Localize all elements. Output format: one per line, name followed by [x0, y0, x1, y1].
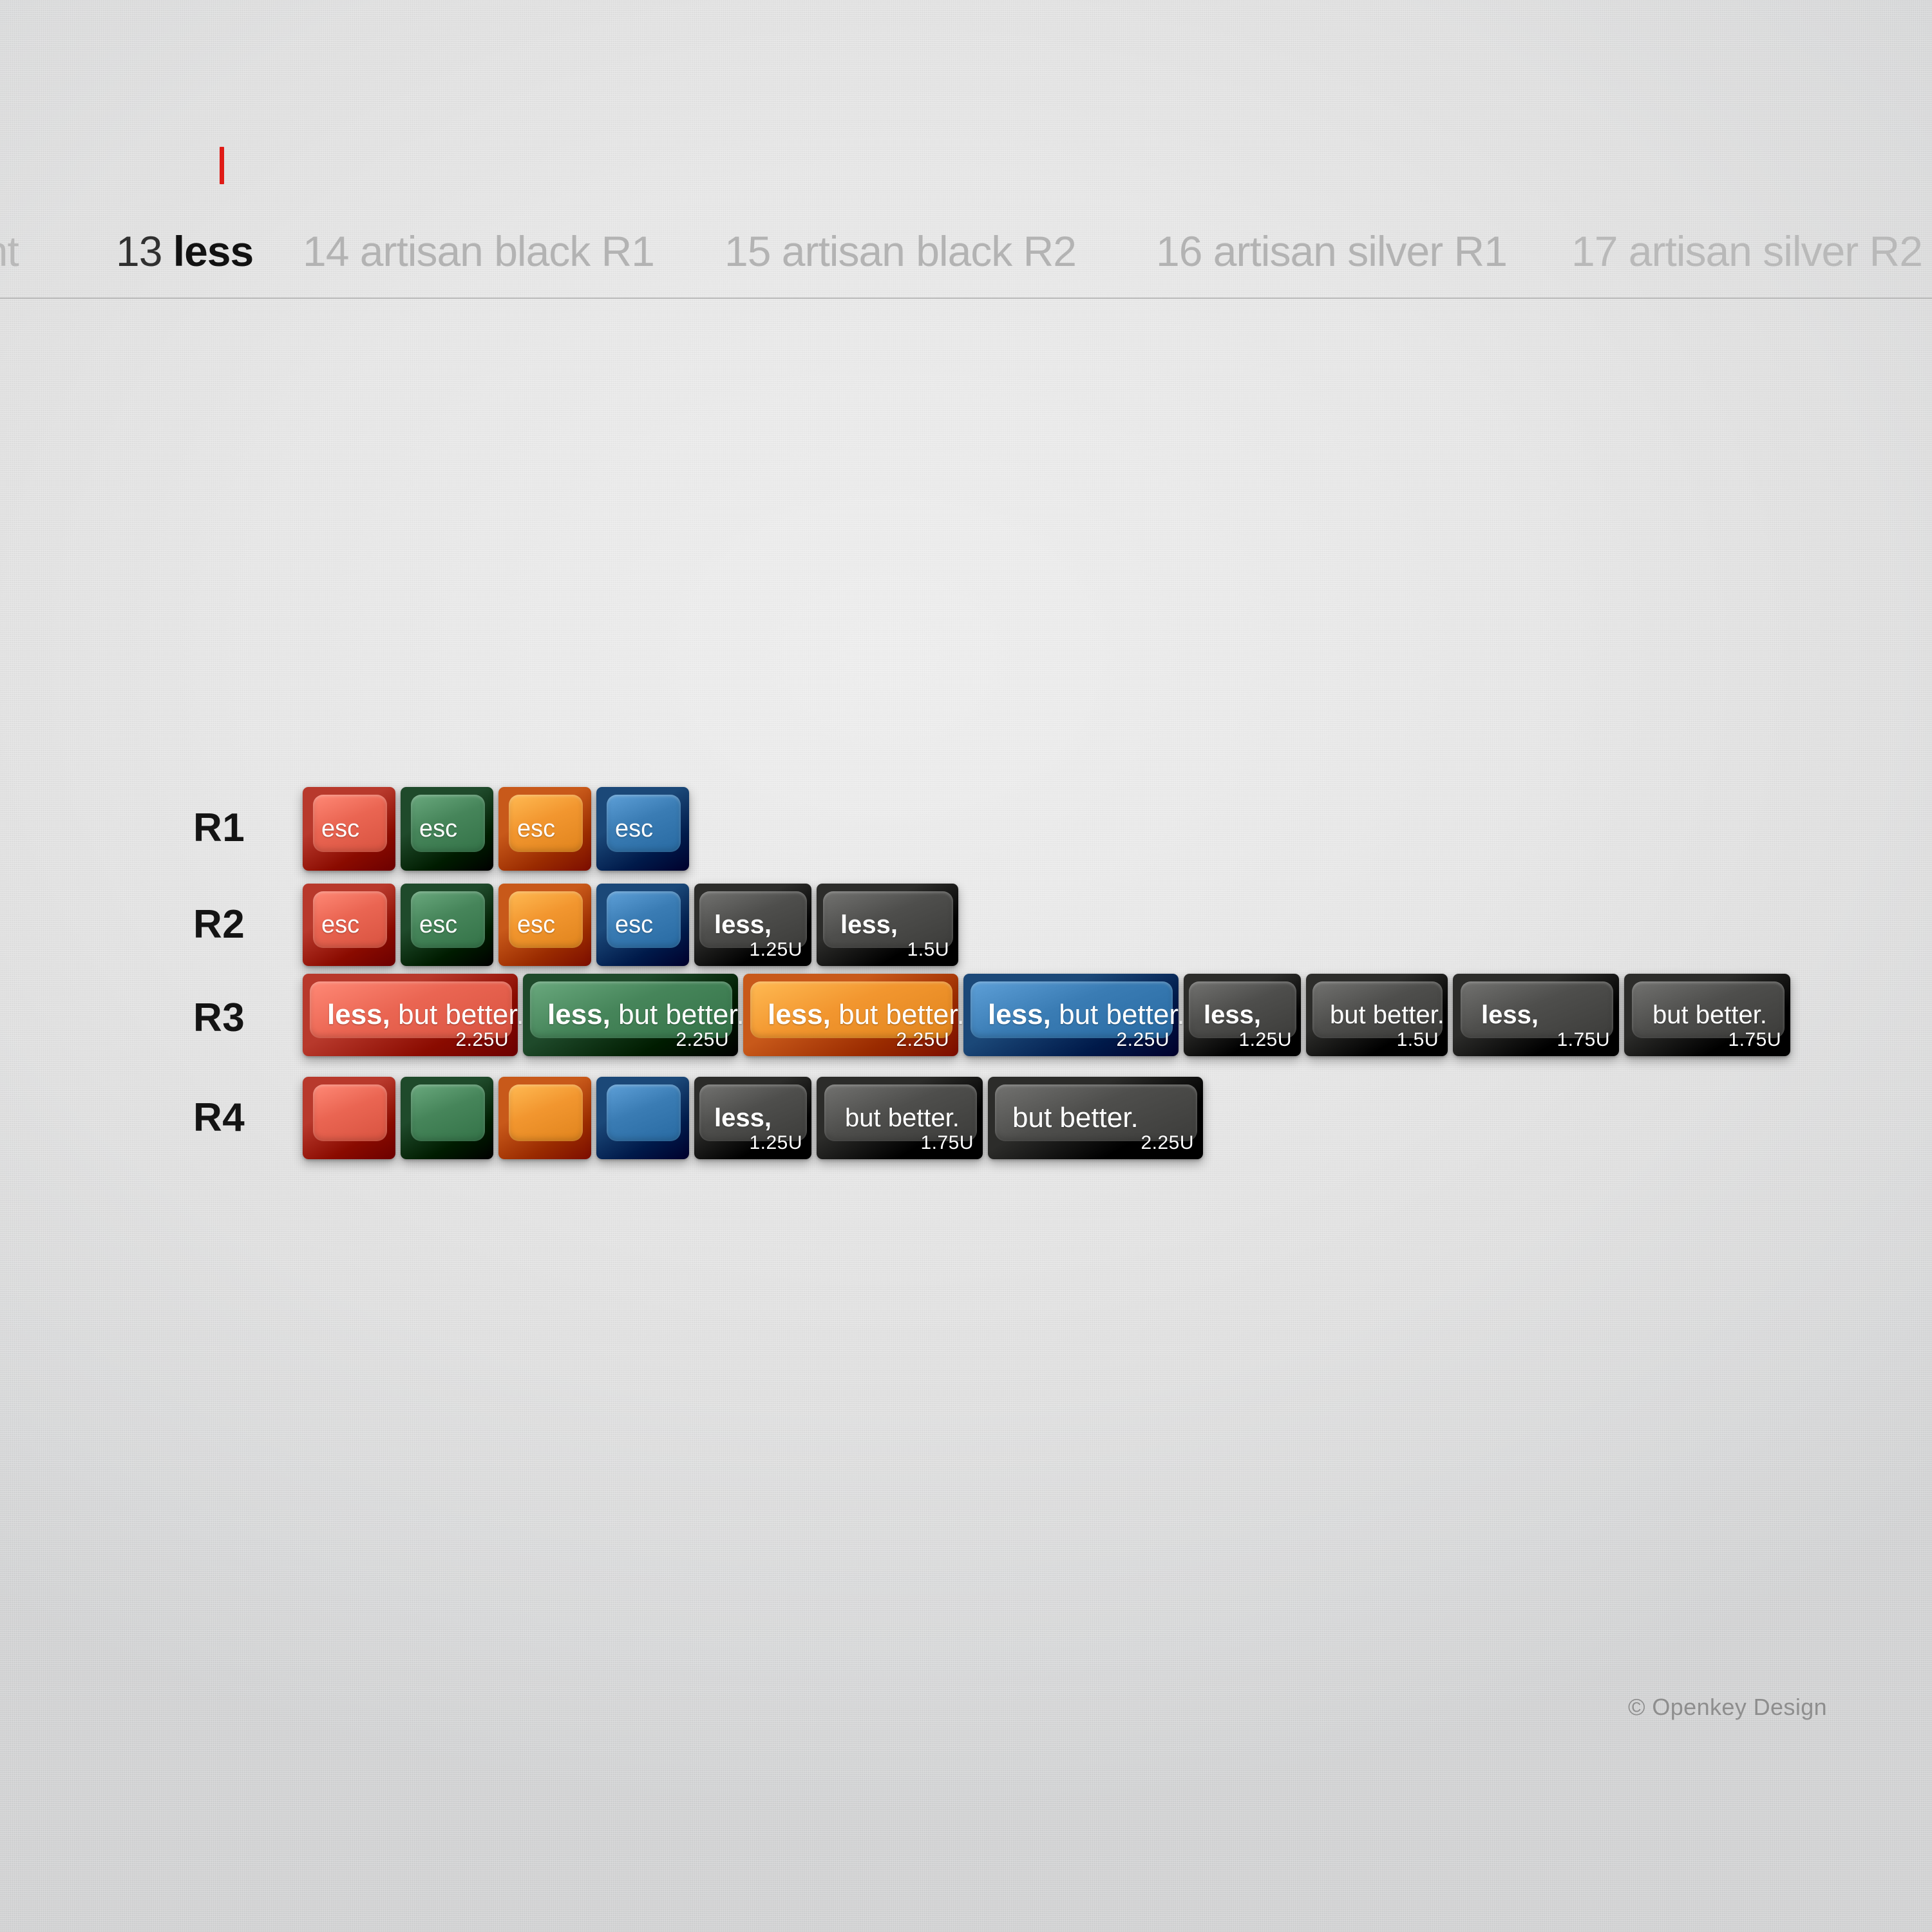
keycap[interactable]: esc — [498, 787, 591, 871]
keycap[interactable] — [498, 1077, 591, 1159]
keycap[interactable] — [303, 1077, 395, 1159]
keycap[interactable]: less, but better.2.25U — [963, 974, 1179, 1056]
keycap[interactable] — [596, 1077, 689, 1159]
keycap-top-face — [313, 795, 387, 853]
keycap[interactable] — [401, 1077, 493, 1159]
keycap[interactable]: esc — [303, 787, 395, 871]
keycap-size-label: 1.75U — [1728, 1029, 1781, 1051]
keycap[interactable]: less, but better.2.25U — [303, 974, 518, 1056]
keycap-layout: R1escescescescR2escescescescless,1.25Ule… — [0, 0, 1932, 1932]
keycap-top-face — [607, 795, 681, 853]
keycap[interactable]: but better.1.75U — [817, 1077, 983, 1159]
row-label-r2: R2 — [193, 902, 296, 947]
keycap[interactable]: less,1.25U — [694, 884, 811, 966]
keycap-top-face — [411, 891, 485, 948]
keycap[interactable]: esc — [498, 884, 591, 966]
keycap[interactable]: less, but better.2.25U — [743, 974, 958, 1056]
keycap[interactable]: but better.2.25U — [988, 1077, 1203, 1159]
keycap[interactable]: less,1.25U — [694, 1077, 811, 1159]
row-label-r4: R4 — [193, 1095, 296, 1141]
keycap-size-label: 1.75U — [920, 1132, 974, 1154]
keycap-size-label: 1.5U — [1397, 1029, 1439, 1051]
keycap[interactable]: less, but better.2.25U — [523, 974, 738, 1056]
keycap-top-face — [313, 1084, 387, 1141]
keycap-top-face — [411, 795, 485, 853]
keycap-size-label: 2.25U — [676, 1029, 729, 1051]
keycap-top-face — [607, 891, 681, 948]
row-label-r3: R3 — [193, 995, 296, 1041]
keycap-size-label: 2.25U — [896, 1029, 949, 1051]
keycap-size-label: 2.25U — [455, 1029, 509, 1051]
keycap-top-face — [411, 1084, 485, 1141]
copyright-credit: © Openkey Design — [1628, 1694, 1827, 1721]
keycap-size-label: 1.25U — [749, 939, 802, 961]
keycap[interactable]: esc — [596, 787, 689, 871]
keycap[interactable]: less,1.25U — [1184, 974, 1301, 1056]
keycap-size-label: 1.75U — [1557, 1029, 1610, 1051]
keycap-top-face — [509, 795, 583, 853]
keycap-top-face — [607, 1084, 681, 1141]
keycap-top-face — [509, 891, 583, 948]
keycap[interactable]: esc — [401, 884, 493, 966]
keycap-top-face — [313, 891, 387, 948]
keycap-size-label: 1.25U — [749, 1132, 802, 1154]
keycap-size-label: 2.25U — [1141, 1132, 1194, 1154]
keycap[interactable]: but better.1.75U — [1624, 974, 1790, 1056]
keycap-size-label: 2.25U — [1116, 1029, 1170, 1051]
keycap[interactable]: less,1.75U — [1453, 974, 1619, 1056]
keycap-size-label: 1.5U — [907, 939, 949, 961]
keycap[interactable]: less,1.5U — [817, 884, 958, 966]
keycap-top-face — [509, 1084, 583, 1141]
keycap[interactable]: esc — [596, 884, 689, 966]
keycap[interactable]: esc — [401, 787, 493, 871]
keycap[interactable]: esc — [303, 884, 395, 966]
keycap-size-label: 1.25U — [1238, 1029, 1292, 1051]
keycap[interactable]: but better.1.5U — [1306, 974, 1448, 1056]
row-label-r1: R1 — [193, 805, 296, 851]
